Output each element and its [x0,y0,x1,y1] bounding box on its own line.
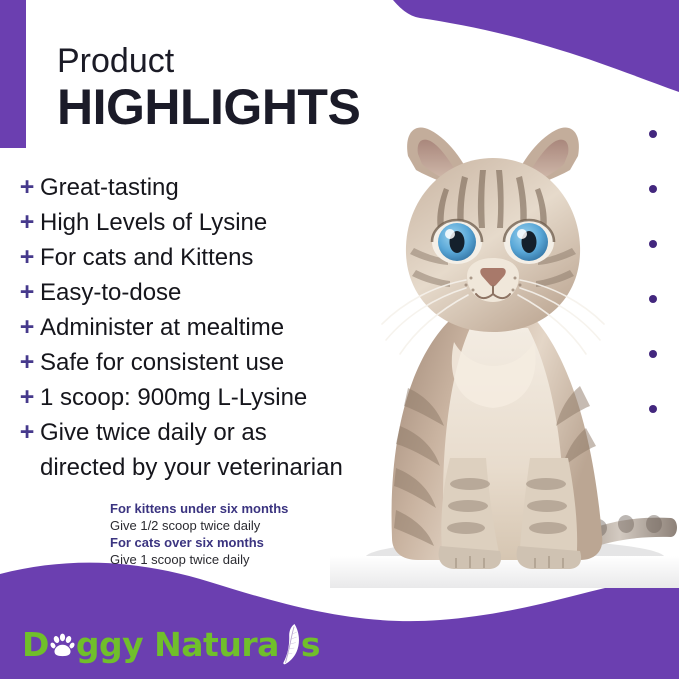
product-highlights-poster: Product HIGHLIGHTS + Great-tasting + Hig… [0,0,679,679]
brand-logo: D ggy Natura s [22,623,320,665]
list-item-label: For cats and Kittens [40,242,253,274]
dosing-heading-cats: For cats over six months [110,534,288,551]
list-item-label: Easy-to-dose [40,277,181,309]
list-item-label: Safe for consistent use [40,347,284,379]
cat-eye-right [504,220,554,264]
list-item-continuation: directed by your veterinarian [14,452,394,489]
logo-text-doggy-post: ggy [76,628,143,661]
decorative-dot [649,130,657,138]
plus-icon: + [14,417,40,447]
dosing-line-kittens: Give 1/2 scoop twice daily [110,517,288,534]
plus-icon: + [14,347,40,377]
decorative-dot-column [649,130,657,413]
decorative-dot [649,405,657,413]
cat-eye-left [432,220,482,264]
plus-icon: + [14,207,40,237]
feature-list: + Great-tasting + High Levels of Lysine … [14,172,394,489]
logo-text-naturals-pre: Natura [154,628,279,661]
decorative-dot [649,295,657,303]
list-item: + For cats and Kittens [14,242,394,277]
top-purple-band [393,0,679,92]
list-item: + Give twice daily or as [14,417,394,452]
list-item-label: High Levels of Lysine [40,207,267,239]
decorative-dot [649,350,657,358]
dosing-line-cats: Give 1 scoop twice daily [110,551,288,568]
paw-print-icon [49,631,76,658]
list-item: + Easy-to-dose [14,277,394,312]
decorative-dot [649,185,657,193]
cat-head [406,158,580,332]
list-item-label: Administer at mealtime [40,312,284,344]
decorative-dot [649,240,657,248]
page-title: Product HIGHLIGHTS [57,44,360,134]
logo-text-doggy-pre: D [22,628,49,661]
left-purple-bar [0,0,26,148]
list-item-label: 1 scoop: 900mg L-Lysine [40,382,307,414]
heading-kicker: Product [57,44,360,80]
dosing-heading-kittens: For kittens under six months [110,500,288,517]
leaf-icon [279,623,301,665]
list-item-label: Great-tasting [40,172,179,204]
dosing-instructions: For kittens under six months Give 1/2 sc… [110,500,288,568]
logo-text-naturals-post: s [301,628,320,661]
list-item: + 1 scoop: 900mg L-Lysine [14,382,394,417]
list-item: + Administer at mealtime [14,312,394,347]
list-item: + Great-tasting [14,172,394,207]
list-item: + Safe for consistent use [14,347,394,382]
floor [330,556,679,588]
plus-icon: + [14,172,40,202]
plus-icon: + [14,312,40,342]
plus-icon: + [14,382,40,412]
list-item-label-continued: directed by your veterinarian [40,452,343,484]
plus-icon: + [14,242,40,272]
list-item: + High Levels of Lysine [14,207,394,242]
heading-main: HIGHLIGHTS [57,81,360,134]
plus-icon: + [14,277,40,307]
list-item-label: Give twice daily or as [40,417,267,449]
